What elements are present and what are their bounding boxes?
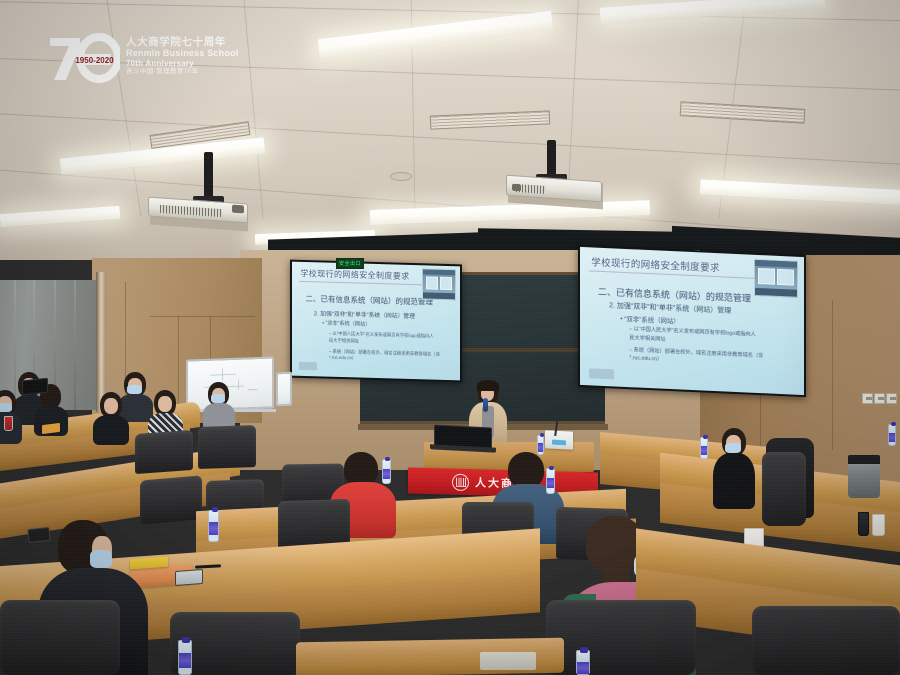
chair[interactable] <box>135 430 193 474</box>
drink-cup <box>4 416 13 431</box>
box-label <box>552 440 566 446</box>
logo-line-cn-1: 人大商学院七十周年 <box>126 36 238 48</box>
logo-70-mark: 1950-2020 <box>46 28 120 84</box>
chair[interactable] <box>752 606 900 675</box>
whiteboard-with-diagram <box>186 356 274 411</box>
slide-line-1: 2. 加强“双非”和“单非”系统（网站）管理 <box>314 308 455 321</box>
slide-footer-badge <box>589 369 614 380</box>
water-bottle <box>178 640 192 675</box>
right-projection-screen[interactable]: 学校现行的网络安全制度要求 二、已有信息系统（网站）的规范管理 2. 加强“双非… <box>578 245 806 397</box>
wall-outlet <box>886 393 897 404</box>
wall-seam <box>832 300 833 450</box>
projector-lens <box>512 184 521 192</box>
trash-bin <box>848 458 880 498</box>
projector-lens <box>232 205 244 214</box>
slide-footer-badge <box>299 362 317 370</box>
chair[interactable] <box>198 425 256 469</box>
wall-seam <box>150 316 255 317</box>
water-bottle <box>576 650 590 675</box>
water-bottle <box>208 510 219 542</box>
paper-on-desk <box>480 652 536 670</box>
smoke-detector-icon <box>390 172 412 181</box>
water-bottle <box>700 437 708 459</box>
water-bottle <box>888 424 896 446</box>
slide-title: 学校现行的网络安全制度要求 <box>300 268 431 283</box>
water-bottle <box>546 468 555 494</box>
audience-laptop[interactable] <box>22 378 48 396</box>
water-bottle <box>382 459 391 484</box>
chair[interactable] <box>0 600 120 675</box>
handheld-microphone[interactable] <box>483 398 488 412</box>
wall-outlet <box>862 393 873 404</box>
chair[interactable] <box>546 600 696 675</box>
trash-bin-liner <box>848 455 880 464</box>
whiteboard-panel-right <box>276 372 292 407</box>
logo-years: 1950-2020 <box>75 56 114 65</box>
logo-line-cn-2: 奋斗中国·管理教育70年 <box>126 68 238 76</box>
ruc-emblem-icon <box>452 473 469 490</box>
smartphone-on-desk[interactable] <box>175 569 203 586</box>
wall-seam <box>178 316 179 406</box>
anniversary-logo: 1950-2020 人大商学院七十周年 Renmin Business Scho… <box>46 28 238 84</box>
emergency-exit-sign: 安全出口 <box>336 258 364 269</box>
drink-cup <box>872 514 885 536</box>
exit-sign-label: 安全出口 <box>339 260 361 267</box>
video-conference-thumbnail[interactable] <box>422 269 456 301</box>
water-bottle <box>537 435 544 455</box>
chair[interactable] <box>762 452 806 526</box>
slide-line-2: • “双非”系统（网站） <box>322 319 456 330</box>
logo-line-en-2: 70th Anniversary <box>126 59 238 68</box>
video-conference-thumbnail[interactable] <box>754 259 799 298</box>
projector-mount-pole <box>547 140 556 178</box>
logo-text-block: 人大商学院七十周年 Renmin Business School 70th An… <box>126 36 238 76</box>
thermos <box>858 512 869 536</box>
projector-mount-pole <box>204 152 213 200</box>
wall-pillar <box>96 272 106 412</box>
smartphone-in-hand[interactable] <box>27 527 50 543</box>
lecture-hall-photo: 1950-2020 人大商学院七十周年 Renmin Business Scho… <box>0 0 900 675</box>
logo-line-en-1: Renmin Business School <box>126 48 238 59</box>
face-mask <box>90 550 112 568</box>
wall-outlet <box>874 393 885 404</box>
chair[interactable] <box>140 475 202 524</box>
left-projection-screen[interactable]: 学校现行的网络安全制度要求 二、已有信息系统（网站）的规范管理 2. 加强“双非… <box>290 260 462 383</box>
